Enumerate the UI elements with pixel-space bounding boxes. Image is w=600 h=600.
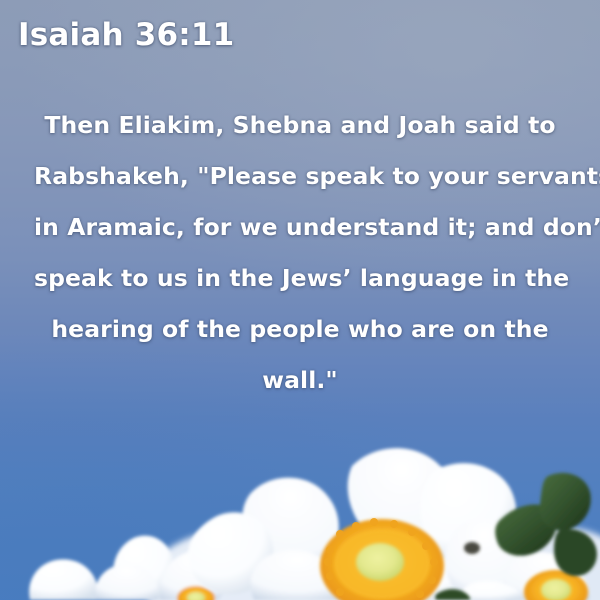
verse-line: wall." <box>34 355 566 406</box>
verse-line: in Aramaic, for we understand it; and do… <box>34 202 566 253</box>
verse-line: speak to us in the Jews’ language in the <box>34 253 566 304</box>
verse-line: hearing of the people who are on the <box>34 304 566 355</box>
verse-image-card: Isaiah 36:11 Then Eliakim, Shebna and Jo… <box>0 0 600 600</box>
verse-line: Then Eliakim, Shebna and Joah said to <box>34 100 566 151</box>
verse-text-block: Then Eliakim, Shebna and Joah said to Ra… <box>34 100 566 406</box>
flower-main <box>188 448 523 600</box>
verse-line: Rabshakeh, "Please speak to your servant… <box>34 151 566 202</box>
verse-reference-title: Isaiah 36:11 <box>18 17 234 53</box>
bud-dark-spot <box>464 542 480 554</box>
